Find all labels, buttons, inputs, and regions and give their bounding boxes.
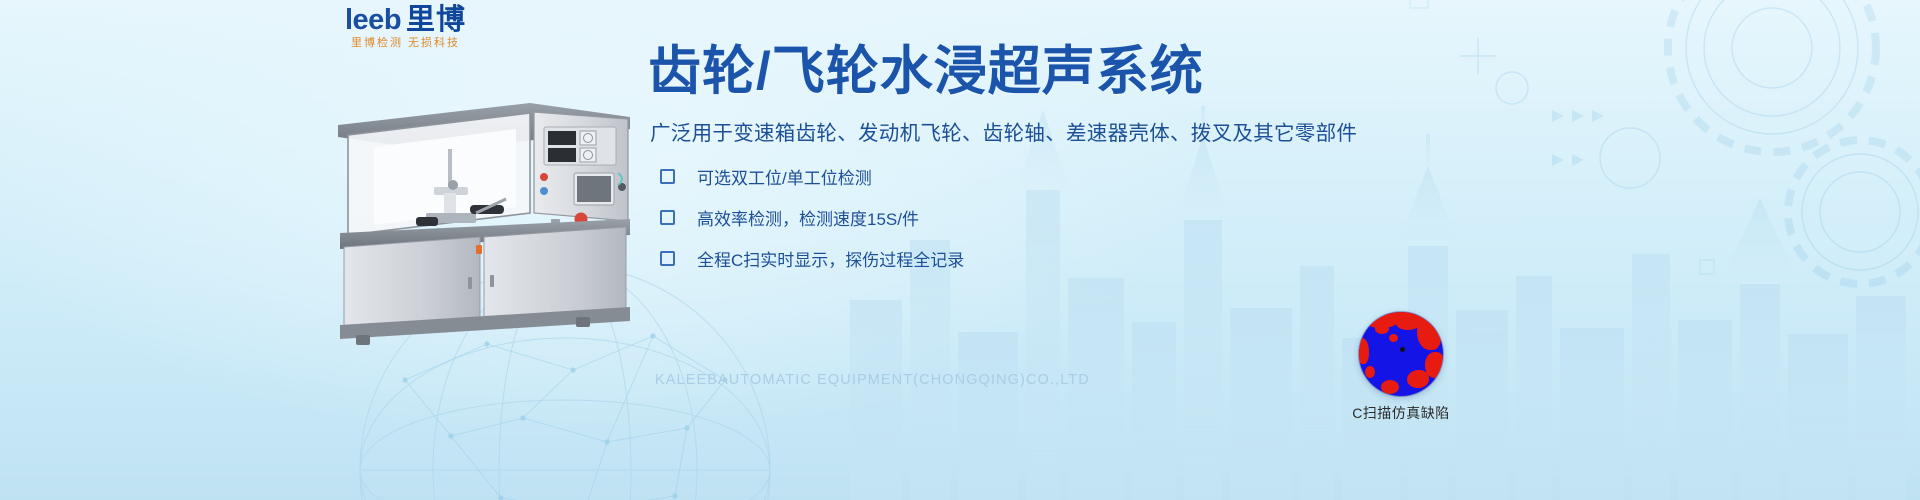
feature-label: 全程C扫实时显示，探伤过程全记录 xyxy=(697,246,964,271)
checkbox-icon xyxy=(660,251,675,266)
company-name-watermark: KALEEBAUTOMATIC EQUIPMENT(CHONGQING)CO.,… xyxy=(655,372,1090,388)
company-logo[interactable]: leeb里博 里博检测 无损科技 xyxy=(345,6,466,49)
product-banner: leeb里博 里博检测 无损科技 xyxy=(0,0,1920,500)
cscan-figure: C扫描仿真缺陷 xyxy=(1316,312,1486,423)
cscan-caption: C扫描仿真缺陷 xyxy=(1316,403,1486,423)
product-photo xyxy=(330,95,640,345)
cscan-center-point xyxy=(1400,347,1405,352)
list-item: 全程C扫实时显示，探伤过程全记录 xyxy=(660,246,1388,271)
list-item: 高效率检测，检测速度15S/件 xyxy=(660,205,1388,230)
page-title: 齿轮/飞轮水浸超声系统 xyxy=(648,44,1388,100)
checkbox-icon xyxy=(660,210,675,225)
list-item: 可选双工位/单工位检测 xyxy=(660,164,1388,189)
feature-label: 可选双工位/单工位检测 xyxy=(697,164,872,189)
banner-subtitle: 广泛用于变速箱齿轮、发动机飞轮、齿轮轴、差速器壳体、拨叉及其它零部件 xyxy=(650,116,1388,146)
cscan-image xyxy=(1359,312,1443,396)
logo-wordmark: leeb里博 xyxy=(345,6,466,35)
checkbox-icon xyxy=(660,169,675,184)
feature-label: 高效率检测，检测速度15S/件 xyxy=(697,205,919,230)
logo-tagline: 里博检测 无损科技 xyxy=(345,38,466,49)
feature-list: 可选双工位/单工位检测 高效率检测，检测速度15S/件 全程C扫实时显示，探伤过… xyxy=(648,164,1388,271)
logo-latin: leeb xyxy=(345,4,401,36)
banner-content: 齿轮/飞轮水浸超声系统 广泛用于变速箱齿轮、发动机飞轮、齿轮轴、差速器壳体、拨叉… xyxy=(648,44,1388,287)
logo-chinese: 里博 xyxy=(406,4,466,36)
